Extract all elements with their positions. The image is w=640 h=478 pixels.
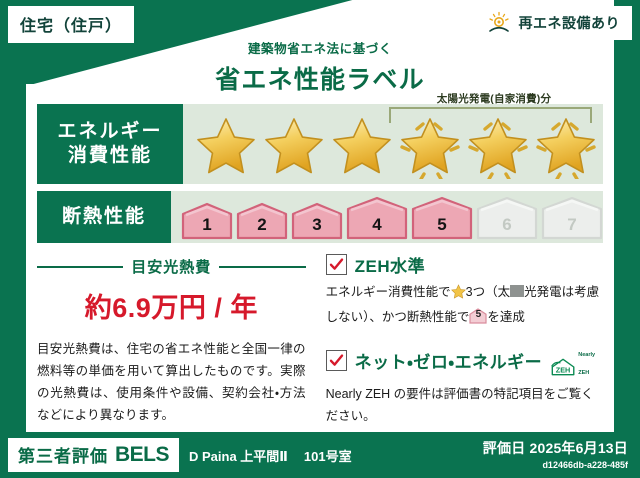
star-solar: [465, 115, 531, 179]
star-filled: [261, 115, 327, 179]
energy-performance-label-cell: エネルギー 消費性能: [37, 104, 183, 184]
zeh-standard-text: エネルギー消費性能で3つ（太光発電は考慮しない）、かつ断熱性能で5を達成: [326, 282, 603, 329]
bels-label: BELS: [115, 443, 169, 467]
energy-performance-label: 住宅（住戸） 再エネ設備あり 建築物省エネ法に基づく 省エネ性能ラベル: [0, 0, 640, 478]
utility-cost-heading: 目安光熱費: [37, 256, 306, 277]
star-solar: [533, 115, 599, 179]
zeh-logo-sub: Nearly ZEH: [578, 343, 603, 379]
insulation-level-number: 2: [236, 215, 288, 235]
check-icon: [329, 353, 344, 368]
bottom-section: 目安光熱費 約6.9万円 / 年 目安光熱費は、住宅の省エネ性能と全国一律の燃料…: [37, 252, 603, 424]
zeh-standard-title: ZEH水準: [355, 252, 426, 277]
star-solar: [397, 115, 463, 179]
zeh-standard-item: ZEH水準 エネルギー消費性能で3つ（太光発電は考慮しない）、かつ断熱性能で5を…: [326, 252, 603, 329]
star-rating: [193, 115, 599, 179]
insulation-level-number: 4: [346, 215, 408, 235]
inline-star-icon: [451, 284, 466, 307]
insulation-level-active: 1: [181, 202, 233, 240]
insulation-performance-row: 断熱性能 1234567: [37, 191, 603, 243]
renewable-equipment-badge: 再エネ設備あり: [476, 6, 633, 40]
zeh-block: ZEH水準 エネルギー消費性能で3つ（太光発電は考慮しない）、かつ断熱性能で5を…: [312, 252, 603, 424]
insulation-level-active: 3: [291, 202, 343, 240]
insulation-level-scale: 1234567: [181, 194, 603, 240]
insulation-performance-label-cell: 断熱性能: [37, 191, 171, 243]
evaluation-date: 評価日 2025年6月13日: [483, 438, 628, 458]
insulation-label: 断熱性能: [62, 205, 146, 229]
label-footer: 第三者評価 BELS D Paina 上平間Ⅱ 101号室 評価日 2025年6…: [0, 432, 640, 478]
insulation-level-badge-inline: 5: [469, 308, 487, 324]
insulation-performance-value-cell: 1234567: [171, 191, 603, 243]
insulation-level-inactive: 6: [476, 196, 538, 240]
insulation-level-number: 7: [541, 215, 603, 235]
housing-type-tag: 住宅（住戸）: [8, 6, 134, 43]
utility-cost-value: 約6.9万円 / 年: [37, 286, 306, 325]
third-party-label: 第三者評価: [18, 442, 108, 467]
sun-icon: [486, 11, 512, 35]
insulation-level-number: 1: [181, 215, 233, 235]
zeh-standard-heading: ZEH水準: [326, 252, 603, 277]
zeh-text-d: を達成: [487, 310, 525, 324]
evaluation-id: d12466db-a228-485f: [483, 460, 628, 470]
net-zero-heading: ネット・ゼロ・エネルギー ZEH Nearly ZEH: [326, 343, 603, 379]
insulation-level-active: 5: [411, 196, 473, 240]
utility-cost-block: 目安光熱費 約6.9万円 / 年 目安光熱費は、住宅の省エネ性能と全国一律の燃料…: [37, 252, 312, 424]
utility-cost-note: 目安光熱費は、住宅の省エネ性能と全国一律の燃料等の単価を用いて算出したものです。…: [37, 339, 306, 427]
insulation-level-number: 5: [411, 215, 473, 235]
check-icon: [329, 257, 344, 272]
star-filled: [329, 115, 395, 179]
net-zero-title: ネット・ゼロ・エネルギー: [355, 348, 543, 373]
bels-badge: 第三者評価 BELS: [8, 438, 179, 472]
cost-rule-left: [37, 266, 123, 268]
performance-rows: エネルギー 消費性能 太陽光発電(自家消費)分 断熱性能 1234567: [37, 104, 603, 250]
building-name: D Paina 上平間Ⅱ: [189, 446, 288, 465]
zeh-logo-sub-line1: Nearly: [578, 352, 595, 358]
net-zero-text: Nearly ZEH の要件は評価書の特記項目をご覧ください。: [326, 384, 603, 428]
zeh-standard-checkbox[interactable]: [326, 254, 347, 275]
energy-label-line2: 消費性能: [68, 144, 152, 168]
zeh-house-logo: ZEH Nearly ZEH: [550, 343, 603, 379]
room-number: 101号室: [304, 446, 352, 465]
energy-performance-row: エネルギー 消費性能 太陽光発電(自家消費)分: [37, 104, 603, 184]
insulation-level-badge-number: 5: [469, 306, 487, 324]
svg-text:ZEH: ZEH: [556, 365, 571, 374]
insulation-level-active: 2: [236, 202, 288, 240]
energy-performance-value-cell: 太陽光発電(自家消費)分: [183, 104, 603, 184]
insulation-level-inactive: 7: [541, 196, 603, 240]
cost-rule-right: [219, 266, 305, 268]
insulation-level-number: 3: [291, 215, 343, 235]
zeh-logo-sub-line2: ZEH: [578, 370, 589, 376]
zeh-text-b: 3つ（太: [466, 285, 510, 299]
insulation-level-number: 6: [476, 215, 538, 235]
utility-cost-title: 目安光熱費: [131, 256, 211, 277]
evaluation-info: 評価日 2025年6月13日 d12466db-a228-485f: [483, 438, 628, 470]
net-zero-item: ネット・ゼロ・エネルギー ZEH Nearly ZEH Nearly ZE: [326, 343, 603, 428]
star-filled: [193, 115, 259, 179]
solar-bracket-label: 太陽光発電(自家消費)分: [379, 91, 609, 106]
net-zero-checkbox[interactable]: [326, 350, 347, 371]
energy-label-line1: エネルギー: [57, 120, 162, 144]
renewable-badge-label: 再エネ設備あり: [519, 13, 621, 33]
insulation-level-active: 4: [346, 196, 408, 240]
redaction-mark: [510, 285, 524, 297]
zeh-text-a: エネルギー消費性能で: [326, 285, 451, 299]
